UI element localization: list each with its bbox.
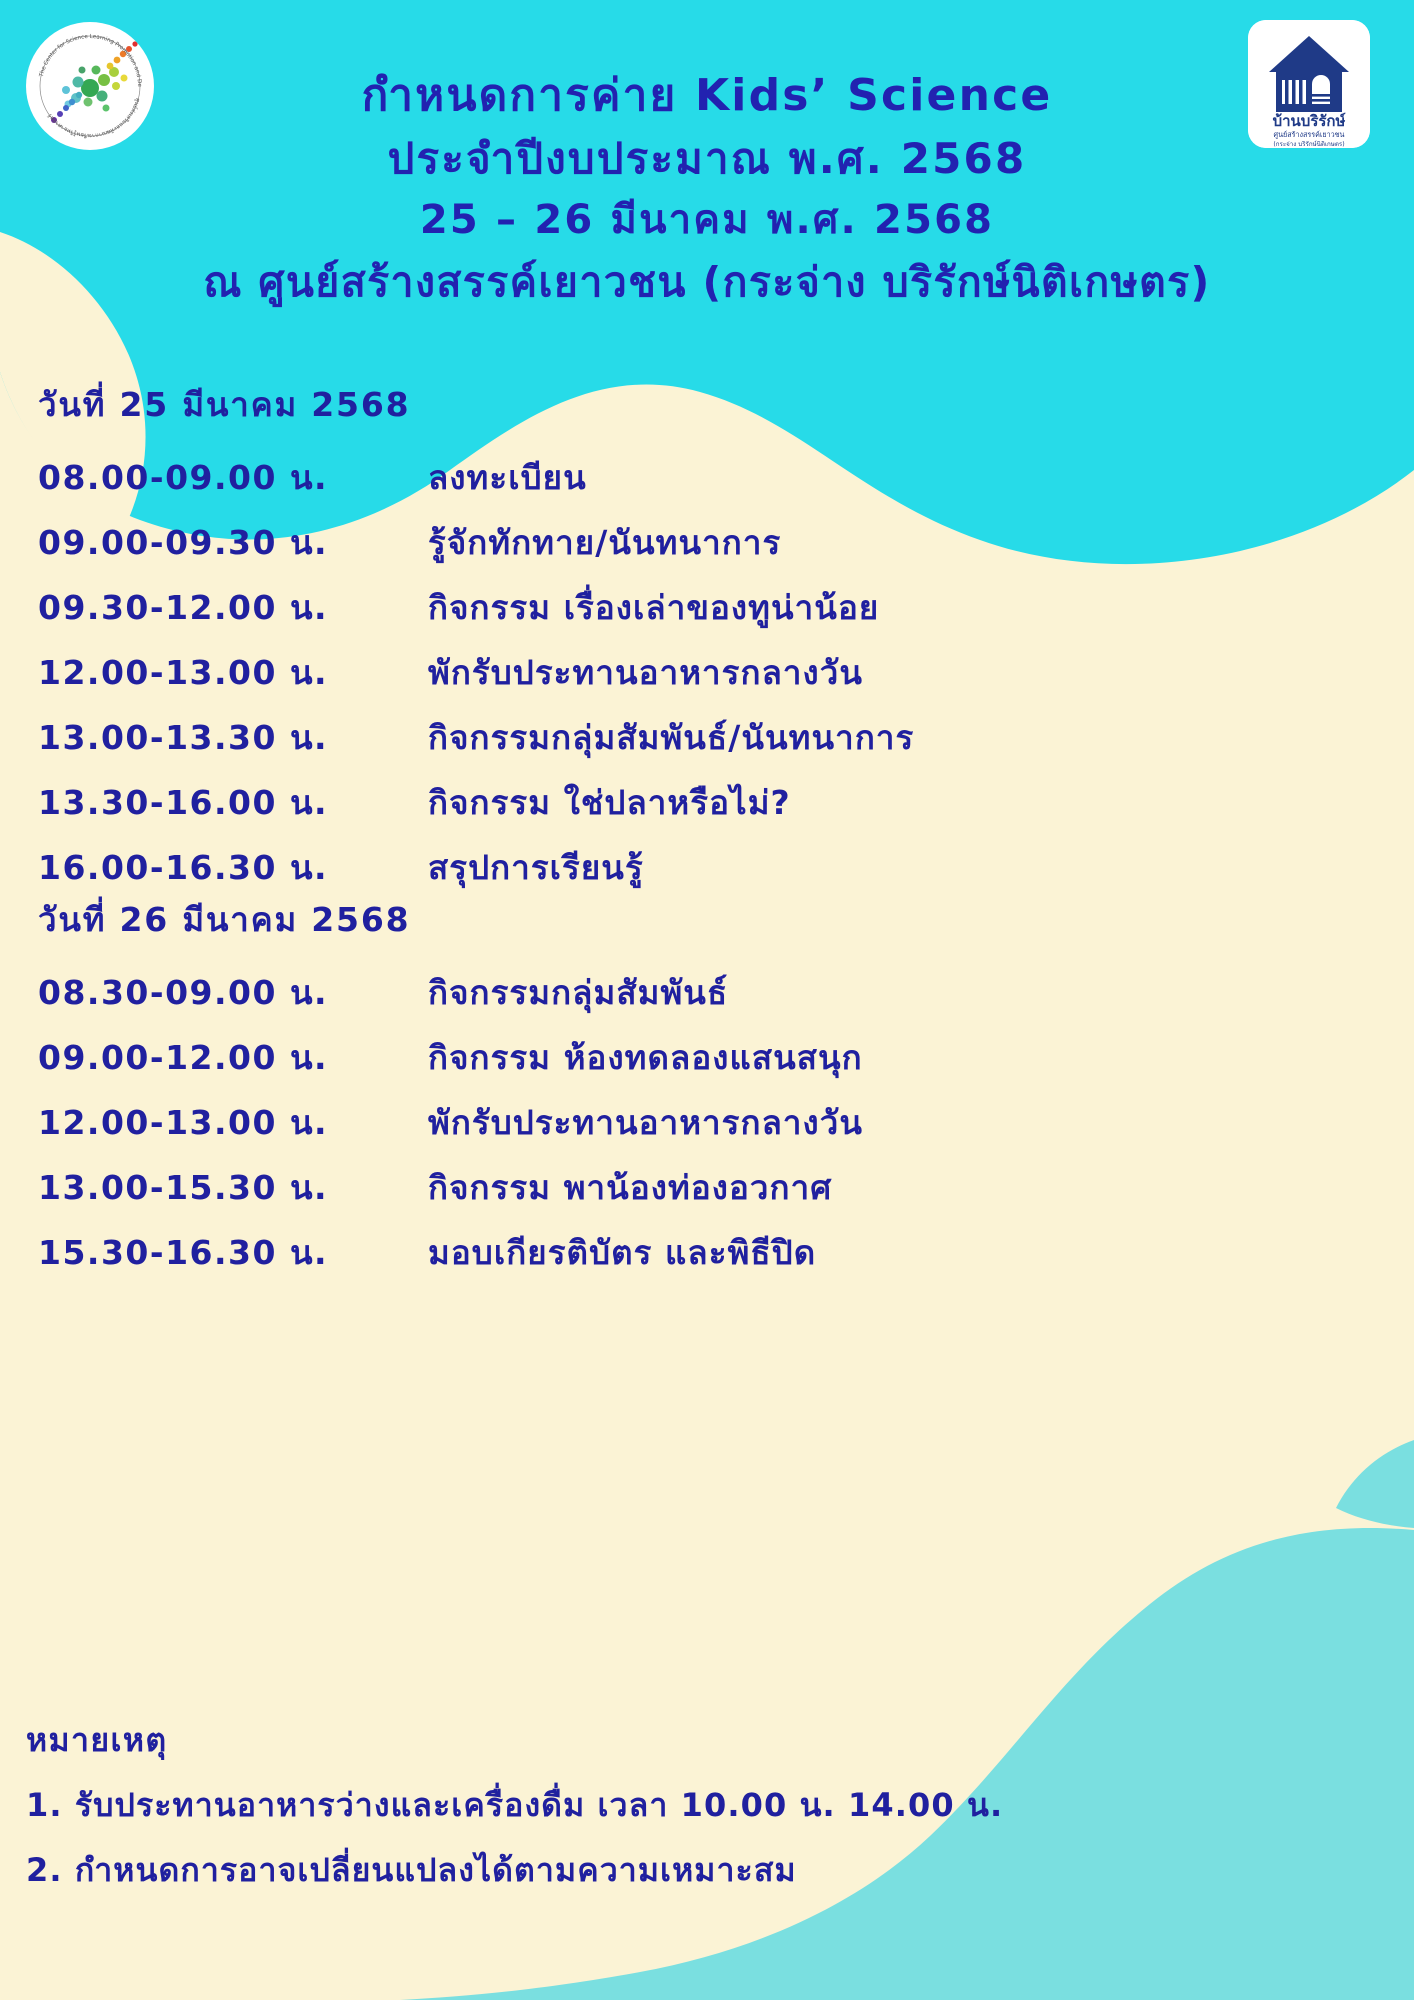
schedule-day-1: วันที่ 25 มีนาคม 2568 08.00-09.00 น. ลงท…	[38, 378, 914, 906]
schedule-time: 09.30-12.00 น.	[38, 581, 428, 634]
schedule-time: 13.00-15.30 น.	[38, 1161, 428, 1214]
note-item: 2. กำหนดการอาจเปลี่ยนแปลงได้ตามความเหมาะ…	[26, 1845, 1226, 1896]
schedule-row: 16.00-16.30 น. สรุปการเรียนรู้	[38, 841, 914, 894]
poster-title-block: กำหนดการค่าย Kids’ Science ประจำปีงบประม…	[0, 74, 1414, 303]
schedule-time: 13.00-13.30 น.	[38, 711, 428, 764]
schedule-row: 09.00-12.00 น. กิจกรรม ห้องทดลองแสนสนุก	[38, 1031, 863, 1084]
schedule-row: 08.00-09.00 น. ลงทะเบียน	[38, 451, 914, 504]
schedule-activity: กิจกรรม ใช่ปลาหรือไม่?	[428, 776, 791, 829]
schedule-activity: สรุปการเรียนรู้	[428, 841, 644, 894]
schedule-activity: รู้จักทักทาย/นันทนาการ	[428, 516, 781, 569]
schedule-row: 13.00-15.30 น. กิจกรรม พาน้องท่องอวกาศ	[38, 1161, 863, 1214]
schedule-activity: พักรับประทานอาหารกลางวัน	[428, 646, 863, 699]
schedule-row: 15.30-16.30 น. มอบเกียรติบัตร และพิธีปิด	[38, 1226, 863, 1279]
schedule-row: 12.00-13.00 น. พักรับประทานอาหารกลางวัน	[38, 1096, 863, 1149]
poster-title-line-1: กำหนดการค่าย Kids’ Science	[0, 74, 1414, 118]
note-item: 1. รับประทานอาหารว่างและเครื่องดื่ม เวลา…	[26, 1780, 1226, 1831]
schedule-time: 13.30-16.00 น.	[38, 776, 428, 829]
schedule-time: 15.30-16.30 น.	[38, 1226, 428, 1279]
poster-canvas: The Center for Science Learning Promotio…	[0, 0, 1414, 2000]
schedule-time: 08.00-09.00 น.	[38, 451, 428, 504]
schedule-row: 13.30-16.00 น. กิจกรรม ใช่ปลาหรือไม่?	[38, 776, 914, 829]
schedule-activity: กิจกรรม เรื่องเล่าของทูน่าน้อย	[428, 581, 879, 634]
schedule-time: 16.00-16.30 น.	[38, 841, 428, 894]
schedule-row: 09.00-09.30 น. รู้จักทักทาย/นันทนาการ	[38, 516, 914, 569]
schedule-row: 08.30-09.00 น. กิจกรรมกลุ่มสัมพันธ์	[38, 966, 863, 1019]
schedule-time: 12.00-13.00 น.	[38, 1096, 428, 1149]
schedule-time: 12.00-13.00 น.	[38, 646, 428, 699]
schedule-row: 12.00-13.00 น. พักรับประทานอาหารกลางวัน	[38, 646, 914, 699]
poster-title-line-3: 25 – 26 มีนาคม พ.ศ. 2568	[0, 200, 1414, 240]
schedule-row: 09.30-12.00 น. กิจกรรม เรื่องเล่าของทูน่…	[38, 581, 914, 634]
schedule-activity: พักรับประทานอาหารกลางวัน	[428, 1096, 863, 1149]
poster-title-line-2: ประจำปีงบประมาณ พ.ศ. 2568	[0, 138, 1414, 180]
schedule-time: 09.00-12.00 น.	[38, 1031, 428, 1084]
schedule-activity: กิจกรรมกลุ่มสัมพันธ์/นันทนาการ	[428, 711, 914, 764]
day-2-heading: วันที่ 26 มีนาคม 2568	[38, 893, 863, 946]
poster-venue-line: ณ ศูนย์สร้างสรรค์เยาวชน (กระจ่าง บริรักษ…	[0, 262, 1414, 303]
notes-heading: หมายเหตุ	[26, 1715, 1226, 1766]
schedule-activity: ลงทะเบียน	[428, 451, 587, 504]
schedule-activity: กิจกรรม พาน้องท่องอวกาศ	[428, 1161, 832, 1214]
schedule-day-2: วันที่ 26 มีนาคม 2568 08.30-09.00 น. กิจ…	[38, 893, 863, 1291]
day-1-heading: วันที่ 25 มีนาคม 2568	[38, 378, 914, 431]
schedule-activity: มอบเกียรติบัตร และพิธีปิด	[428, 1226, 816, 1279]
schedule-time: 08.30-09.00 น.	[38, 966, 428, 1019]
schedule-activity: กิจกรรม ห้องทดลองแสนสนุก	[428, 1031, 863, 1084]
schedule-row: 13.00-13.30 น. กิจกรรมกลุ่มสัมพันธ์/นันท…	[38, 711, 914, 764]
schedule-time: 09.00-09.30 น.	[38, 516, 428, 569]
notes-section: หมายเหตุ 1. รับประทานอาหารว่างและเครื่อง…	[26, 1715, 1226, 1910]
schedule-activity: กิจกรรมกลุ่มสัมพันธ์	[428, 966, 728, 1019]
